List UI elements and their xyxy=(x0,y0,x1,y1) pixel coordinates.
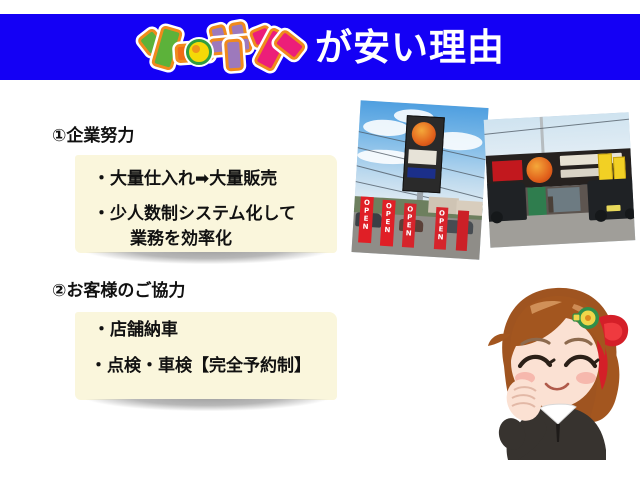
bullet-work-efficiency: 業務を効率化 xyxy=(130,231,232,248)
license-plate xyxy=(606,205,620,212)
section-heading-company-effort: ①企業努力 xyxy=(52,121,134,146)
open-flag: OPEN xyxy=(434,207,449,250)
smiling-girl-mascot xyxy=(478,274,638,460)
header-banner: が安い理由 xyxy=(0,14,640,80)
storefront-photo xyxy=(484,112,636,247)
store-entrance-door xyxy=(527,187,547,218)
bullet-inspection-reservation: ・点検・車検【完全予約制】 xyxy=(90,358,311,375)
store-red-sign xyxy=(492,160,523,182)
person-silhouette xyxy=(548,196,554,212)
pole-sign-text-plate xyxy=(408,149,437,165)
logo-glyph-sa-stroke-3 xyxy=(224,38,244,71)
section-heading-customer-cooperation: ②お客様のご協力 xyxy=(52,276,185,301)
sun-emblem-icon xyxy=(186,39,212,65)
bullet-small-staff-system: ・少人数制システム化して xyxy=(93,206,296,223)
pole-sign-brand-plate xyxy=(407,167,436,179)
lot-pole-sign-photo: OPEN OPEN OPEN OPEN xyxy=(351,100,488,260)
poster-canvas: が安い理由 ①企業努力 ・大量仕入れ➡大量販売 ・少人数制システム化して 業務を… xyxy=(0,0,640,480)
van-wheel xyxy=(625,208,636,220)
bullet-bulk-purchase: ・大量仕入れ➡大量販売 xyxy=(93,171,277,188)
brand-logo xyxy=(135,19,311,75)
header-banner-content: が安い理由 xyxy=(0,14,640,80)
banner-title: が安い理由 xyxy=(315,29,505,66)
bullet-store-delivery: ・店舗納車 xyxy=(93,322,178,339)
